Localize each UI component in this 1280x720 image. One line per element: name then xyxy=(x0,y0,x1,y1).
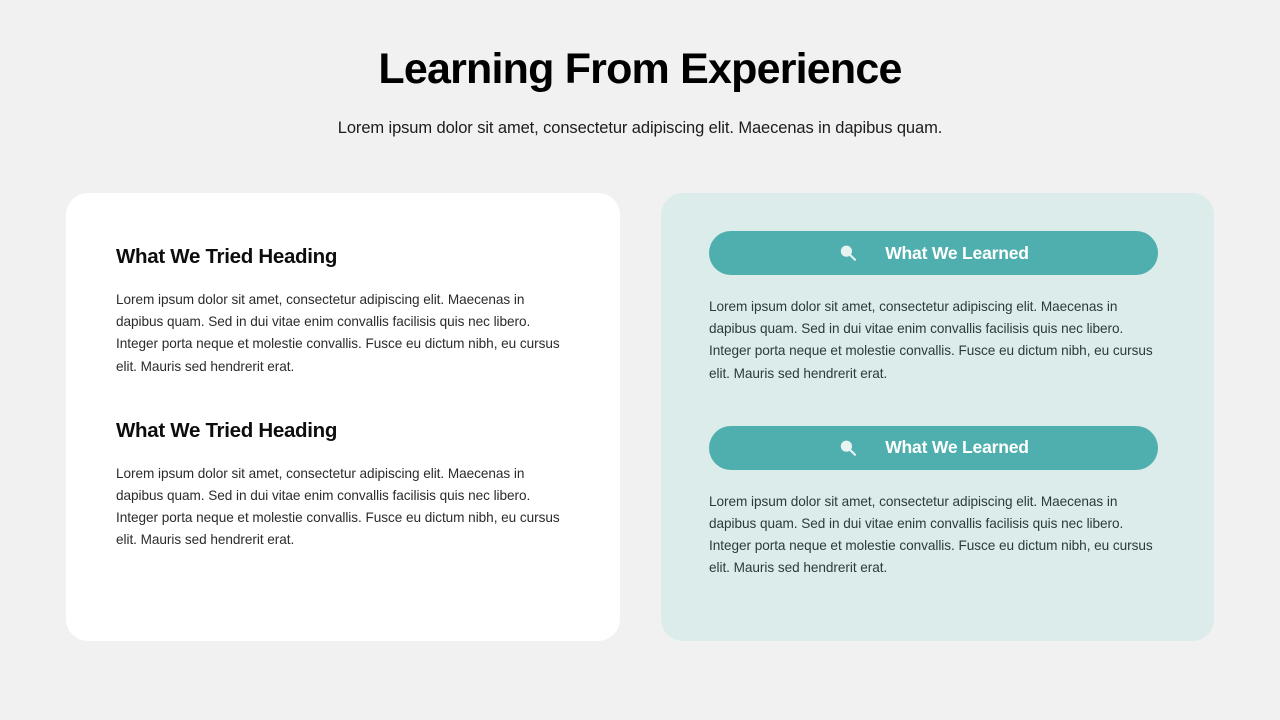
slide-header: Learning From Experience Lorem ipsum dol… xyxy=(0,46,1280,138)
what-we-tried-body: Lorem ipsum dolor sit amet, consectetur … xyxy=(116,269,568,378)
slide: Learning From Experience Lorem ipsum dol… xyxy=(0,0,1280,720)
what-we-tried-block: What We Tried Heading Lorem ipsum dolor … xyxy=(116,245,572,378)
what-we-learned-button-label: What We Learned xyxy=(885,243,1029,264)
what-we-learned-button[interactable]: What We Learned xyxy=(709,426,1158,470)
what-we-learned-body: Lorem ipsum dolor sit amet, consectetur … xyxy=(709,470,1161,580)
what-we-learned-body: Lorem ipsum dolor sit amet, consectetur … xyxy=(709,275,1161,385)
what-we-tried-card: What We Tried Heading Lorem ipsum dolor … xyxy=(66,193,620,641)
what-we-learned-block: What We Learned Lorem ipsum dolor sit am… xyxy=(709,231,1167,385)
page-title: Learning From Experience xyxy=(0,46,1280,93)
page-subtitle: Lorem ipsum dolor sit amet, consectetur … xyxy=(0,93,1280,138)
what-we-tried-block: What We Tried Heading Lorem ipsum dolor … xyxy=(116,419,572,552)
search-icon xyxy=(838,243,858,263)
what-we-learned-button[interactable]: What We Learned xyxy=(709,231,1158,275)
what-we-learned-button-label: What We Learned xyxy=(885,437,1029,458)
what-we-learned-block: What We Learned Lorem ipsum dolor sit am… xyxy=(709,426,1167,580)
what-we-tried-body: Lorem ipsum dolor sit amet, consectetur … xyxy=(116,443,568,552)
what-we-tried-heading: What We Tried Heading xyxy=(116,245,572,269)
search-icon xyxy=(838,438,858,458)
what-we-tried-heading: What We Tried Heading xyxy=(116,419,572,443)
card-row: What We Tried Heading Lorem ipsum dolor … xyxy=(66,193,1214,641)
what-we-learned-card: What We Learned Lorem ipsum dolor sit am… xyxy=(661,193,1214,641)
